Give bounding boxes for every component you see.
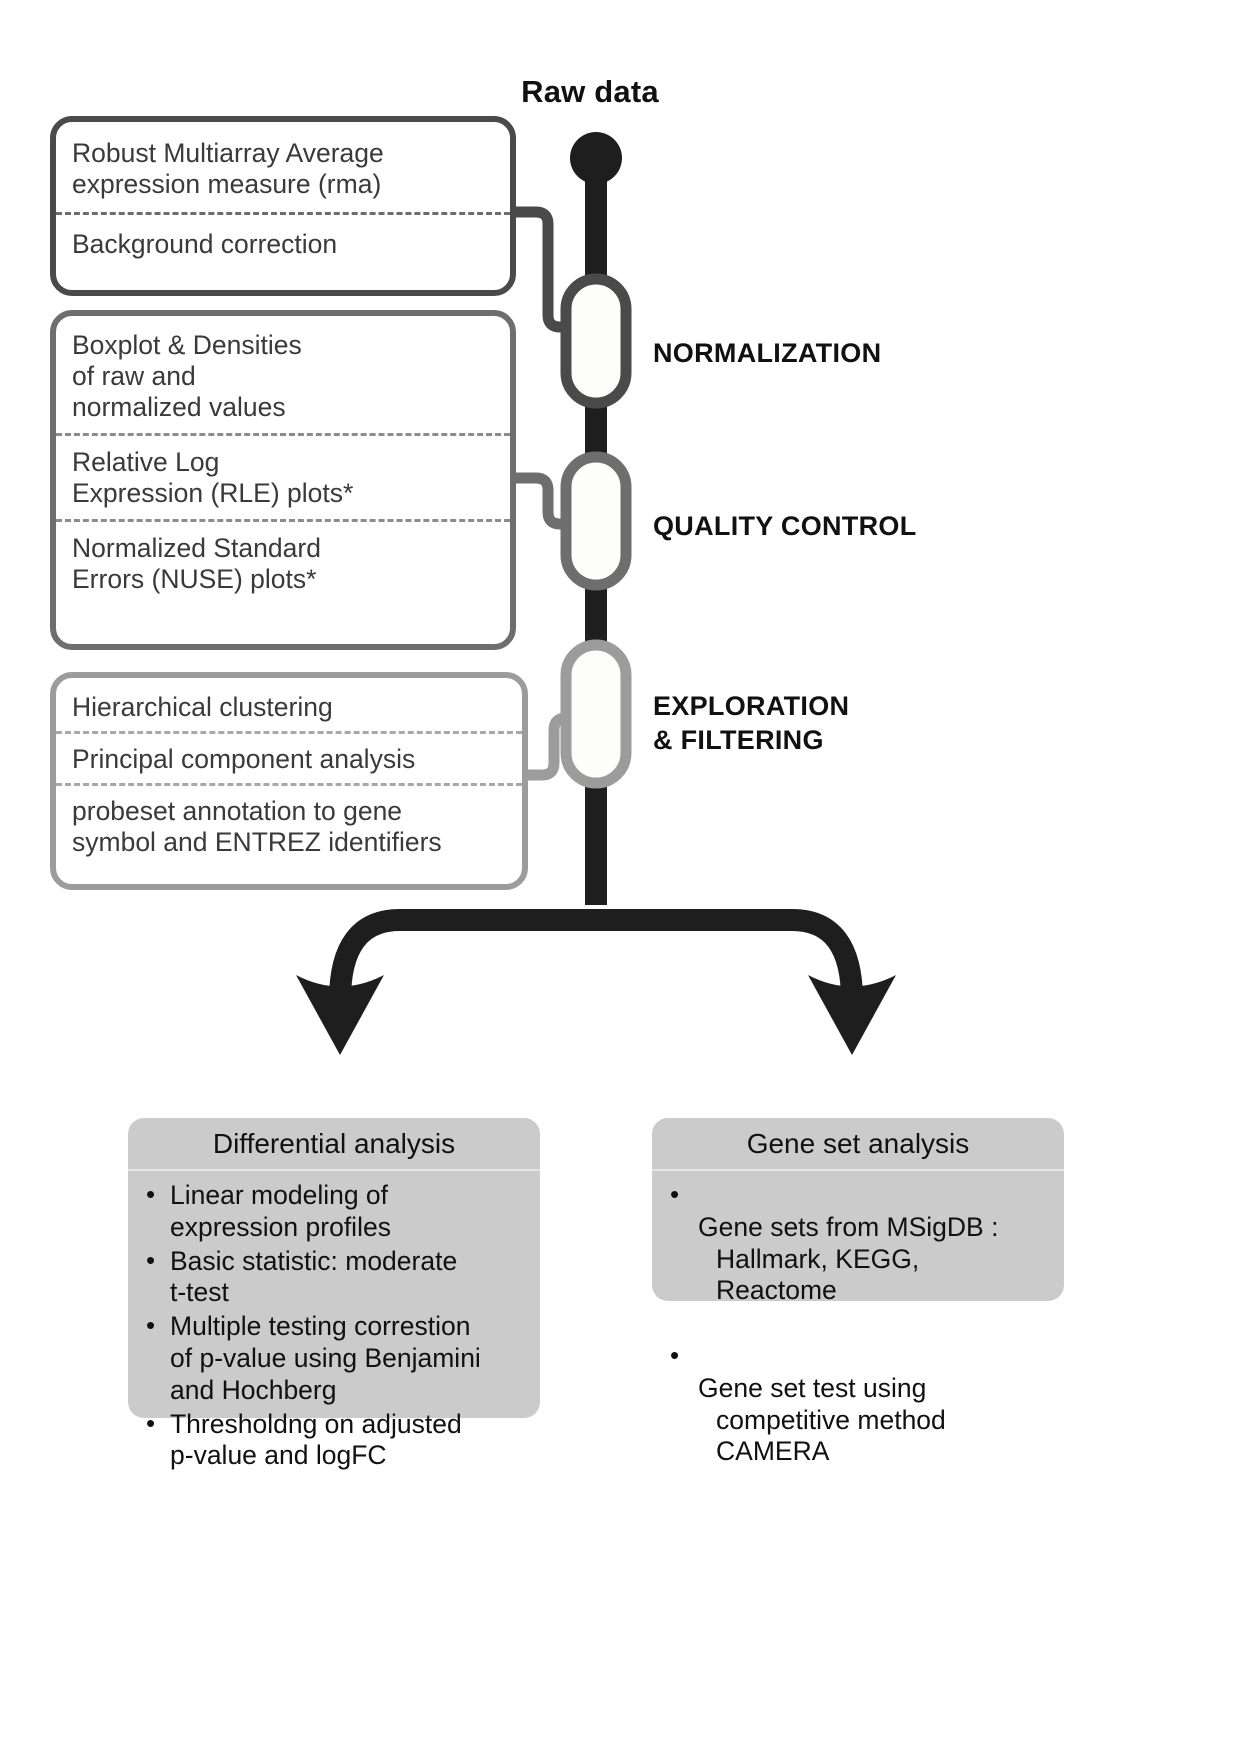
stage-item: Normalized Standard Errors (NUSE) plots*	[56, 519, 510, 601]
branch-arrow-left-icon	[296, 975, 384, 1055]
stage-box-exploration-filtering: Hierarchical clustering Principal compon…	[50, 672, 528, 890]
panel-gene-set-analysis: Gene set analysis Gene sets from MSigDB …	[652, 1118, 1064, 1301]
branch-split-path	[340, 920, 852, 1000]
list-item: Thresholdng on adjusted p-value and logF…	[144, 1409, 528, 1473]
stage-item: Principal component analysis	[56, 731, 522, 783]
stage-item: Robust Multiarray Average expression mea…	[56, 132, 510, 212]
stage-capsule-normalization	[566, 279, 626, 403]
connector-quality-control	[516, 478, 572, 524]
list-item: Gene set test using competitive method C…	[668, 1341, 1052, 1500]
stage-item: Relative Log Expression (RLE) plots*	[56, 433, 510, 519]
list-item: Gene sets from MSigDB : Hallmark, KEGG, …	[668, 1180, 1052, 1339]
panel-bullet-list: Linear modeling of expression profiles B…	[128, 1171, 540, 1488]
stage-capsule-exploration	[566, 645, 626, 783]
list-item-lead: Gene sets from MSigDB :	[698, 1212, 998, 1242]
list-item: Linear modeling of expression profiles	[144, 1180, 528, 1244]
panel-title: Differential analysis	[128, 1118, 540, 1171]
stage-item: Hierarchical clustering	[56, 686, 522, 731]
panel-title: Gene set analysis	[652, 1118, 1064, 1171]
list-item-continuation: Hallmark, KEGG, Reactome	[698, 1244, 1052, 1308]
branch-arrow-right-icon	[808, 975, 896, 1055]
connector-normalization	[516, 212, 572, 327]
panel-bullet-list: Gene sets from MSigDB : Hallmark, KEGG, …	[652, 1171, 1064, 1516]
stage-capsule-quality-control	[566, 457, 626, 585]
stage-item: Background correction	[56, 212, 510, 266]
stage-box-quality-control: Boxplot & Densities of raw and normalize…	[50, 310, 516, 650]
list-item: Basic statistic: moderate t-test	[144, 1246, 528, 1310]
list-item-continuation: competitive method CAMERA	[698, 1405, 1052, 1469]
stage-item: probeset annotation to gene symbol and E…	[56, 783, 522, 864]
raw-data-node-icon	[570, 132, 622, 184]
stage-label-normalization: NORMALIZATION	[653, 337, 881, 371]
panel-differential-analysis: Differential analysis Linear modeling of…	[128, 1118, 540, 1418]
stage-label-exploration-filtering: EXPLORATION & FILTERING	[653, 690, 849, 758]
list-item: Multiple testing correstion of p-value u…	[144, 1311, 528, 1406]
list-item-lead: Gene set test using	[698, 1373, 926, 1403]
page-title: Raw data	[420, 74, 760, 110]
stage-label-quality-control: QUALITY CONTROL	[653, 510, 917, 544]
stage-item: Boxplot & Densities of raw and normalize…	[56, 324, 510, 433]
connector-exploration	[528, 718, 578, 775]
workflow-diagram: Raw data Robust Multiarray Average expre…	[0, 0, 1240, 1753]
stage-box-normalization: Robust Multiarray Average expression mea…	[50, 116, 516, 296]
